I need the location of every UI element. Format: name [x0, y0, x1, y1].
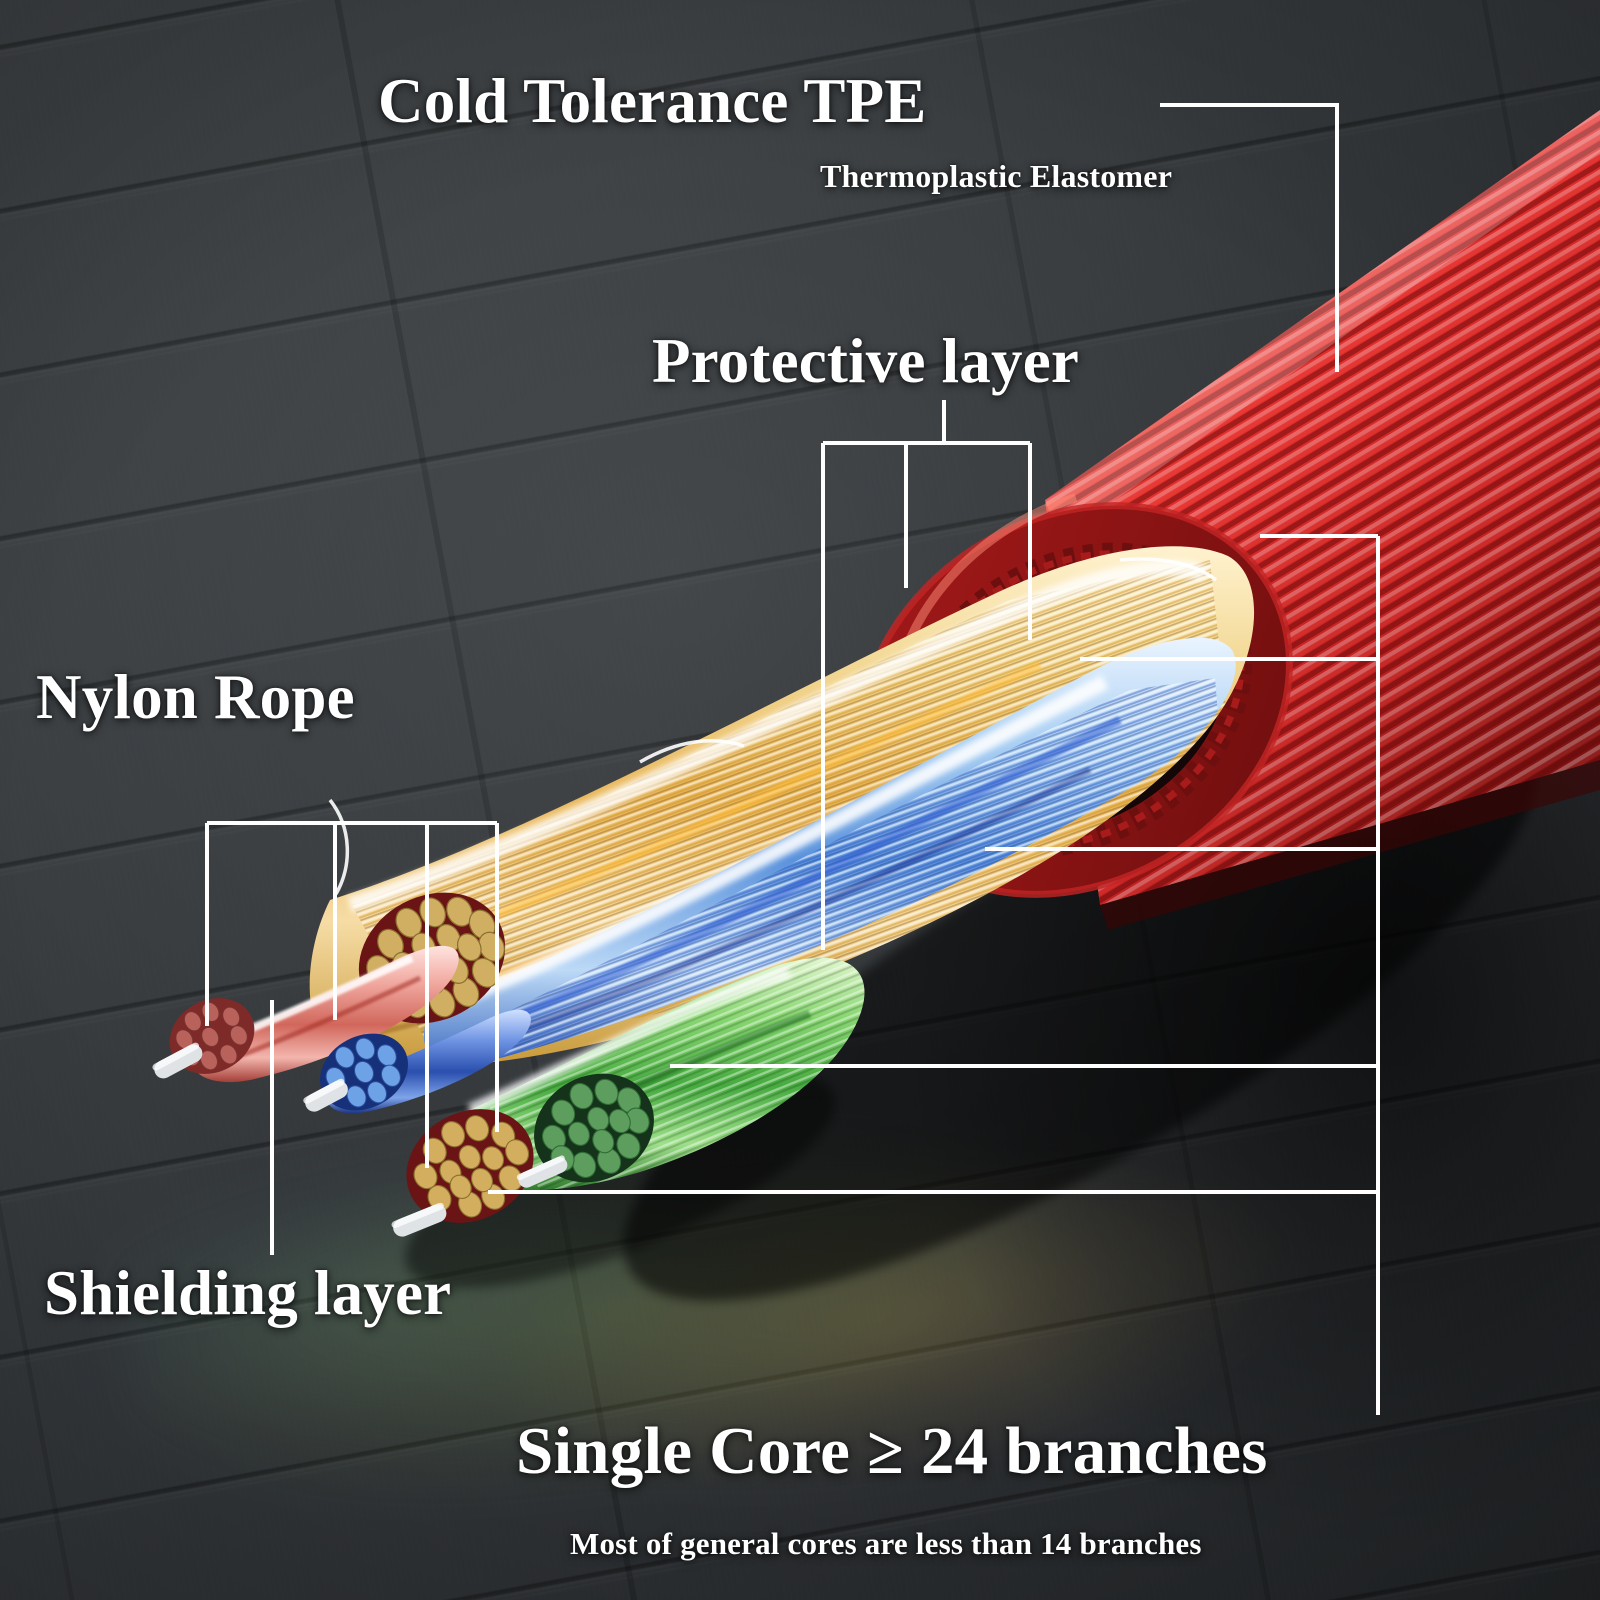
leader-curve-tick: [330, 800, 347, 894]
label-single-core: Single Core ≥ 24 branches: [516, 1418, 1268, 1485]
label-cold-tolerance-tpe: Cold Tolerance TPE: [378, 70, 927, 133]
cable-illustration: [0, 0, 1600, 1600]
label-shielding-layer: Shielding layer: [44, 1262, 451, 1325]
label-thermoplastic-elastomer: Thermoplastic Elastomer: [820, 160, 1172, 192]
label-single-core-note: Most of general cores are less than 14 b…: [570, 1528, 1202, 1559]
label-nylon-rope: Nylon Rope: [36, 666, 355, 729]
infographic-canvas: Cold Tolerance TPE Thermoplastic Elastom…: [0, 0, 1600, 1600]
label-protective-layer: Protective layer: [652, 330, 1079, 393]
